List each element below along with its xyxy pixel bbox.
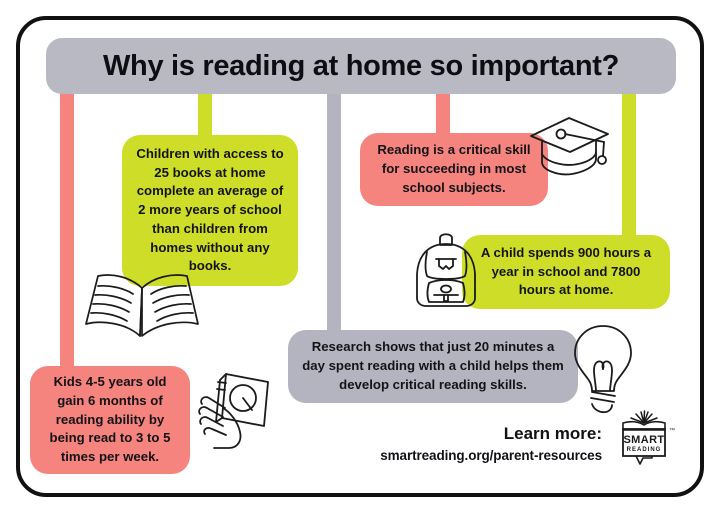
fact-bubble-research: Research shows that just 20 minutes a da… [288,330,578,403]
fact-bubble-hours: A child spends 900 hours a year in schoo… [462,235,670,309]
smart-reading-logo: SMART READING ™ [614,410,678,472]
lightbulb-icon [566,322,640,414]
hand-holding-book-icon [196,360,288,452]
fact-bubble-books: Children with access to 25 books at home… [122,135,298,286]
fact-bubble-critical-skill: Reading is a critical skill for succeedi… [360,133,548,206]
logo-trademark: ™ [669,427,675,434]
learn-more-block: Learn more: smartreading.org/parent-reso… [336,424,602,463]
open-book-icon [80,268,204,346]
infographic-root: Why is reading at home so important? Chi… [0,0,720,513]
header-bar: Why is reading at home so important? [46,38,676,94]
page-title: Why is reading at home so important? [103,50,619,83]
fact-text-research: Research shows that just 20 minutes a da… [301,338,565,394]
logo-secondary-text: READING [627,447,662,453]
fact-text-hours: A child spends 900 hours a year in schoo… [475,244,657,300]
stem-pink-left [60,92,74,380]
learn-more-label: Learn more: [336,424,602,444]
fact-text-critical-skill: Reading is a critical skill for succeedi… [373,141,535,197]
graduation-cap-icon [524,112,614,184]
stem-green-hours [622,92,636,248]
learn-more-url[interactable]: smartreading.org/parent-resources [336,448,602,463]
backpack-icon [409,228,483,310]
fact-bubble-kids: Kids 4-5 years old gain 6 months of read… [30,366,190,474]
fact-text-books: Children with access to 25 books at home… [135,145,285,276]
stem-gray-research [327,92,341,340]
logo-primary-text: SMART [623,434,664,446]
fact-text-kids: Kids 4-5 years old gain 6 months of read… [43,373,177,467]
